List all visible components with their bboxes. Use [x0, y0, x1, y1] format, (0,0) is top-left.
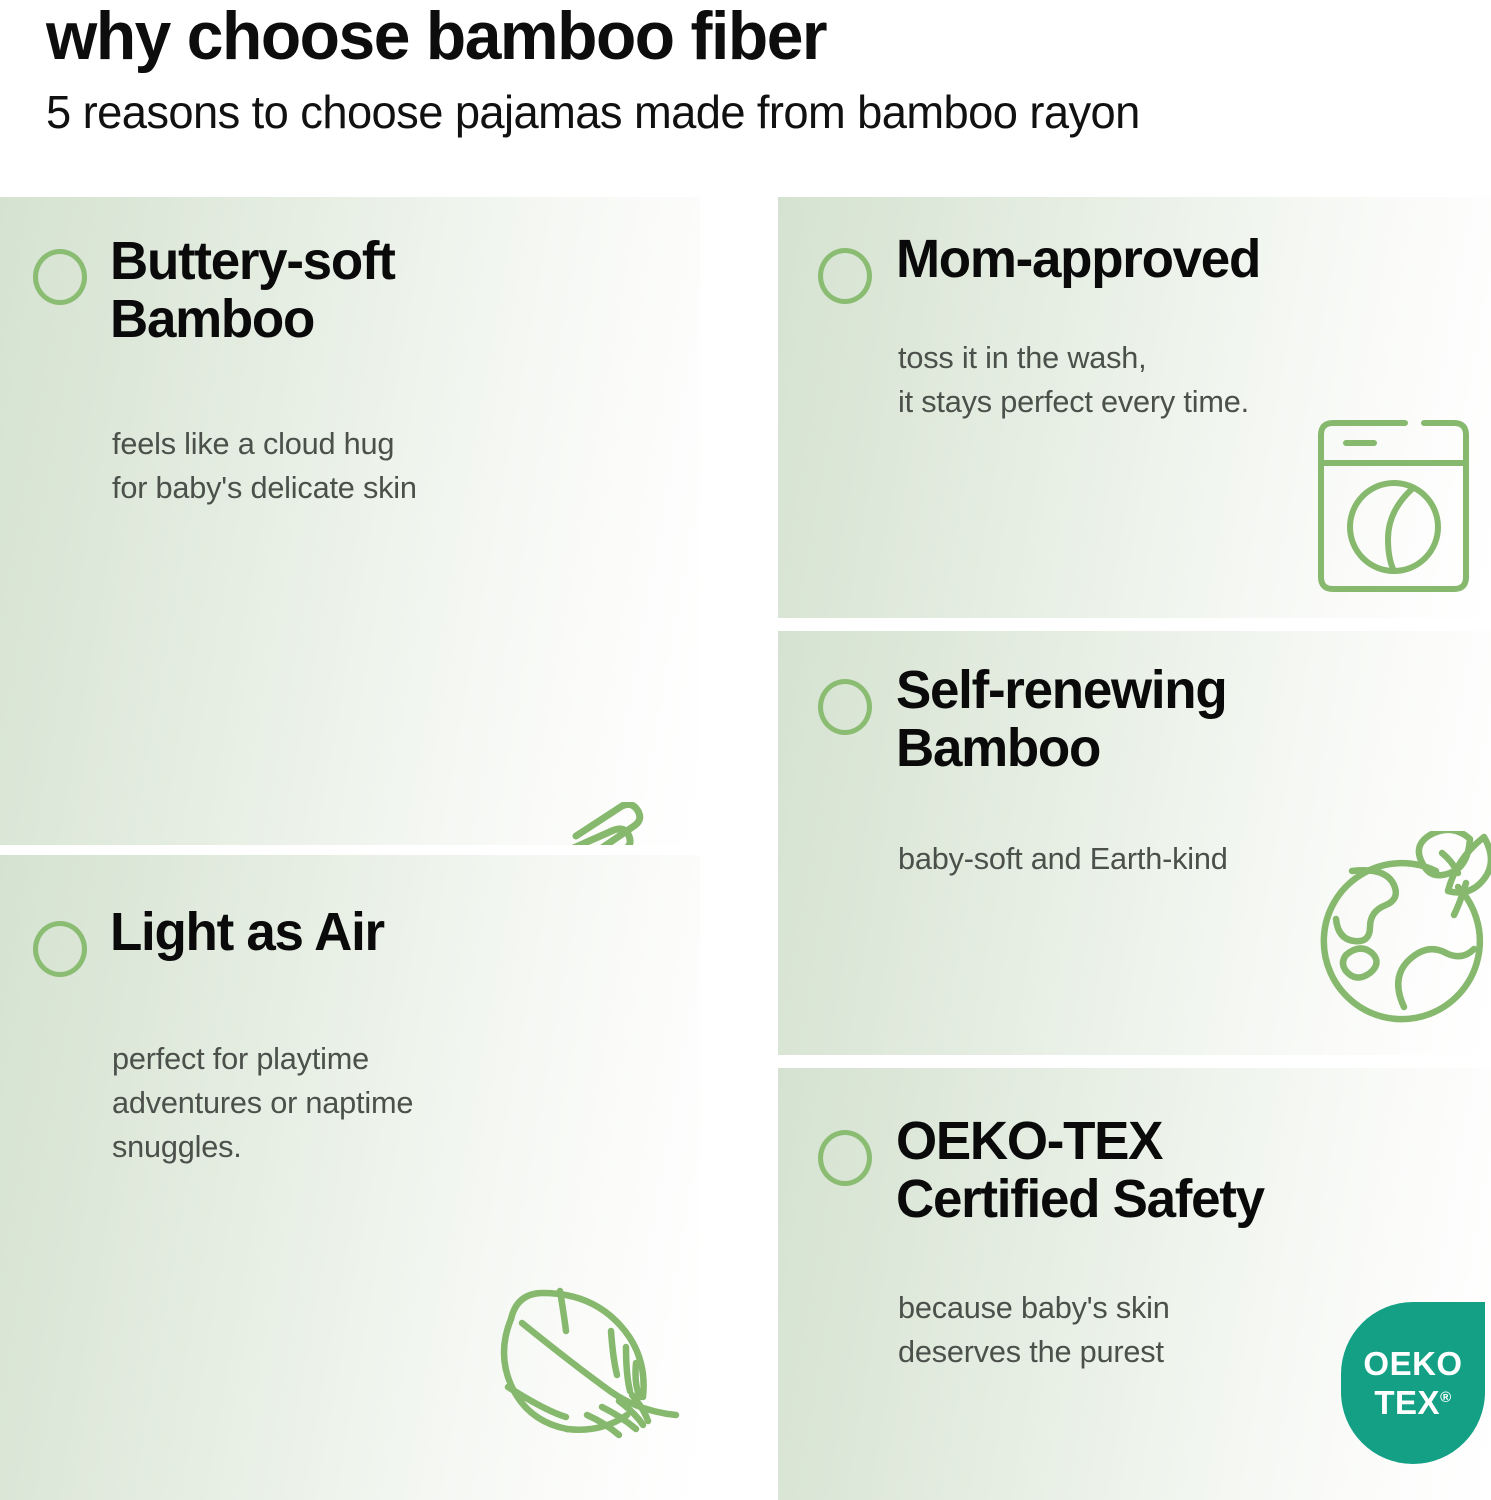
bullet-ring-icon — [818, 679, 872, 735]
bullet-ring-icon — [33, 921, 87, 977]
bullet-ring-icon — [818, 1130, 872, 1186]
bullet-ring-icon — [33, 249, 87, 305]
card-body: toss it in the wash, it stays perfect ev… — [898, 336, 1472, 424]
card-heading: Light as Air — [110, 903, 659, 961]
oeko-tex-badge-line2-text: TEX — [1374, 1384, 1440, 1421]
feature-card-mom-approved: Mom-approved toss it in the wash, it sta… — [778, 197, 1491, 618]
oeko-tex-badge-line1: OEKO — [1363, 1347, 1462, 1380]
feather-icon — [484, 1265, 699, 1441]
soft-hand-fabric-icon — [498, 802, 700, 845]
feature-card-light-as-air: Light as Air perfect for playtime advent… — [0, 855, 700, 1500]
card-heading: OEKO-TEX Certified Safety — [896, 1112, 1484, 1229]
feature-card-self-renewing-bamboo: Self-renewing Bamboo baby-soft and Earth… — [778, 631, 1491, 1055]
oeko-tex-badge: OEKO TEX® — [1341, 1302, 1485, 1464]
card-body: because baby's skin deserves the purest — [898, 1286, 1413, 1374]
card-heading: Mom-approved — [896, 230, 1464, 288]
infographic-header: why choose bamboo fiber 5 reasons to cho… — [0, 0, 1491, 175]
card-heading: Self-renewing Bamboo — [896, 661, 1464, 778]
page-title: why choose bamboo fiber — [46, 2, 826, 71]
washing-machine-icon — [1312, 417, 1475, 595]
registered-trademark-icon: ® — [1440, 1389, 1452, 1406]
page-subtitle: 5 reasons to choose pajamas made from ba… — [46, 88, 1140, 136]
earth-leaf-icon — [1308, 831, 1491, 1036]
oeko-tex-badge-line2: TEX® — [1374, 1386, 1451, 1419]
card-heading: Buttery-soft Bamboo — [110, 232, 659, 349]
card-body: perfect for playtime adventures or napti… — [112, 1037, 666, 1169]
card-body: feels like a cloud hug for baby's delica… — [112, 422, 666, 510]
feature-card-buttery-soft-bamboo: Buttery-soft Bamboo feels like a cloud h… — [0, 197, 700, 845]
bullet-ring-icon — [818, 248, 872, 304]
